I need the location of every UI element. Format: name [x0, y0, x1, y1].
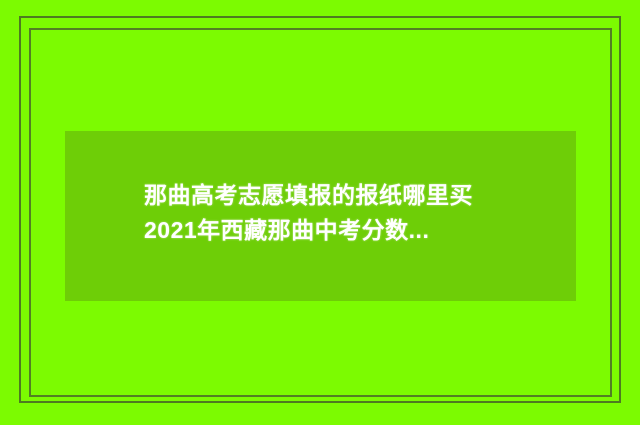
- thumbnail-title-line-1: 那曲高考志愿填报的报纸哪里买: [144, 178, 564, 213]
- thumbnail-title: 那曲高考志愿填报的报纸哪里买 2021年西藏那曲中考分数...: [144, 178, 564, 248]
- thumbnail-title-line-2: 2021年西藏那曲中考分数...: [144, 213, 564, 248]
- article-thumbnail-card[interactable]: 那曲高考志愿填报的报纸哪里买 2021年西藏那曲中考分数...: [0, 0, 640, 425]
